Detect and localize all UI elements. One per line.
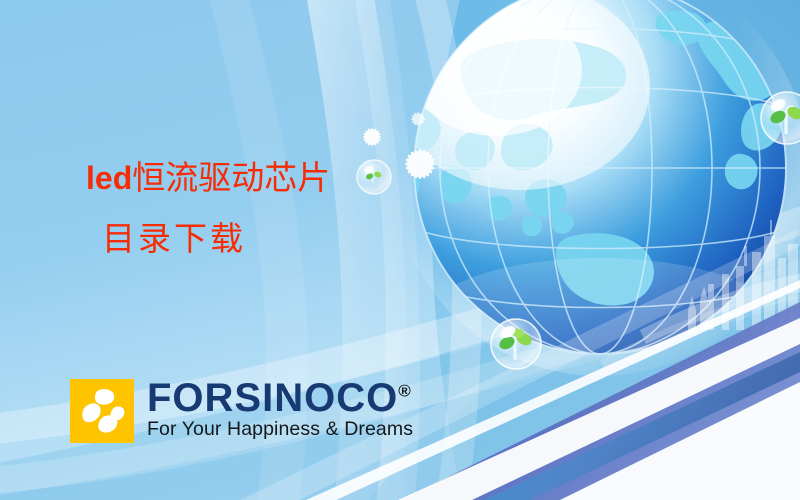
forsinoco-logo: FORSINOCO® For Your Happiness & Dreams <box>70 379 413 443</box>
logo-wordmark-text: FORSINOCO <box>147 376 398 420</box>
registered-trademark-icon: ® <box>398 382 411 401</box>
forsinoco-pinwheel-mark-icon <box>70 379 134 443</box>
logo-wordmark: FORSINOCO® <box>147 380 413 417</box>
logo-tagline: For Your Happiness & Dreams <box>147 418 413 441</box>
logo-text-block: FORSINOCO® For Your Happiness & Dreams <box>147 379 413 441</box>
promo-banner: led恒流驱动芯片 目录下载 FORSINOCO® For Your Happi… <box>0 0 800 500</box>
